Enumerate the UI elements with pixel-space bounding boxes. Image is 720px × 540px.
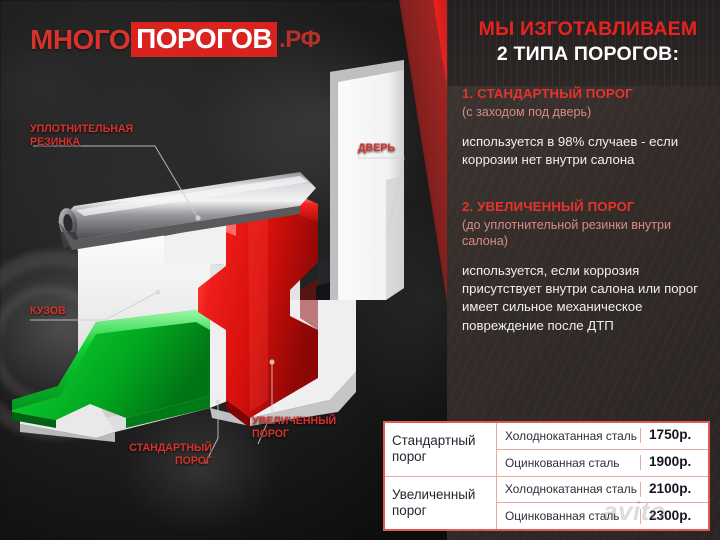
callout-seal: УПЛОТНИТЕЛЬНАЯ РЕЗИНКА (30, 123, 160, 148)
price-table: Стандартный порог Увеличенный порог Холо… (383, 421, 710, 531)
callout-extended-sill: УВЕЛИЧЕННЫЙ ПОРОГ (252, 415, 362, 440)
poster-root: УПЛОТНИТЕЛЬНАЯ РЕЗИНКА КУЗОВ ДВЕРЬ СТАНД… (0, 0, 720, 540)
panel-heading: МЫ ИЗГОТАВЛИВАЕМ 2 ТИПА ПОРОГОВ: (462, 0, 714, 66)
callout-door-label: ДВЕРЬ (358, 142, 418, 155)
price-material: Оцинкованная сталь (497, 456, 640, 470)
logo-part-rf: .РФ (279, 26, 320, 54)
callout-standard-sill: СТАНДАРТНЫЙ ПОРОГ (92, 442, 212, 467)
callout-seal-label: УПЛОТНИТЕЛЬНАЯ РЕЗИНКА (30, 123, 160, 148)
section-standard-body: используется в 98% случаев - если корроз… (462, 133, 714, 169)
callout-extended-label: УВЕЛИЧЕННЫЙ ПОРОГ (252, 415, 362, 440)
section-extended: 2. УВЕЛИЧЕННЫЙ ПОРОГ (до уплотнительной … (462, 199, 714, 335)
price-value: 2100р. (640, 482, 708, 497)
price-value: 1750р. (640, 428, 708, 443)
table-row: Оцинкованная сталь 1900р. (497, 449, 708, 476)
brand-logo[interactable]: МНОГО ПОРОГОВ .РФ (30, 22, 320, 57)
section-extended-title: 2. УВЕЛИЧЕННЫЙ ПОРОГ (462, 199, 714, 216)
price-table-rows: Холоднокатанная сталь 1750р. Оцинкованна… (497, 423, 708, 529)
section-standard-title: 1. СТАНДАРТНЫЙ ПОРОГ (462, 86, 714, 103)
price-material: Холоднокатанная сталь (497, 482, 640, 496)
section-extended-body: используется, если коррозия присутствует… (462, 262, 714, 335)
callout-body: КУЗОВ (30, 305, 100, 318)
section-extended-subtitle: (до уплотнительной резинки внутри салона… (462, 217, 714, 249)
panel-heading-line1: МЫ ИЗГОТАВЛИВАЕМ (462, 18, 714, 41)
price-type-standard: Стандартный порог (385, 423, 496, 477)
price-value: 1900р. (640, 455, 708, 470)
table-row: Холоднокатанная сталь 1750р. (497, 423, 708, 449)
standard-sill-green (12, 310, 210, 428)
price-material: Оцинкованная сталь (497, 509, 640, 523)
logo-part-porogov: ПОРОГОВ (131, 22, 277, 57)
price-table-type-column: Стандартный порог Увеличенный порог (385, 423, 497, 529)
door-panel (316, 60, 404, 300)
logo-part-mnogo: МНОГО (30, 24, 130, 56)
panel-heading-line2: 2 ТИПА ПОРОГОВ: (462, 43, 714, 66)
callout-door: ДВЕРЬ (358, 142, 418, 155)
table-row: Холоднокатанная сталь 2100р. (497, 476, 708, 503)
callout-body-label: КУЗОВ (30, 305, 100, 318)
price-material: Холоднокатанная сталь (497, 429, 640, 443)
callout-standard-label: СТАНДАРТНЫЙ ПОРОГ (92, 442, 212, 467)
price-type-extended: Увеличенный порог (385, 477, 496, 530)
price-value: 2300р. (640, 509, 708, 524)
table-row: Оцинкованная сталь 2300р. (497, 502, 708, 529)
section-standard-subtitle: (с заходом под дверь) (462, 104, 714, 120)
section-standard: 1. СТАНДАРТНЫЙ ПОРОГ (с заходом под двер… (462, 86, 714, 169)
